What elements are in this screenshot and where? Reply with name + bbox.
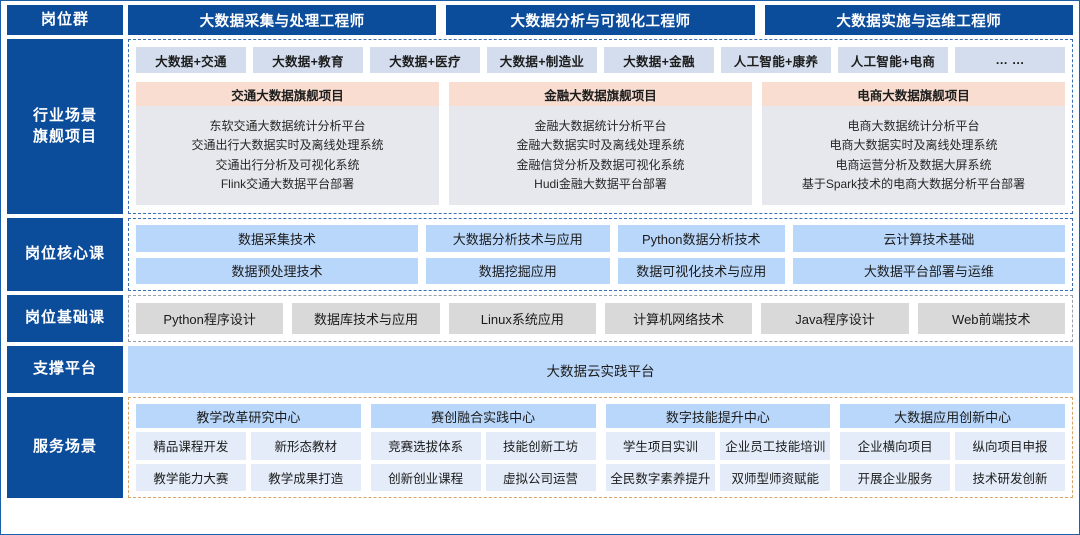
- flagship-project-item: 电商运营分析及数据大屏系统: [835, 157, 991, 174]
- service-center-title[interactable]: 教学改革研究中心: [136, 404, 361, 428]
- service-center-item[interactable]: 企业员工技能培训: [720, 432, 830, 460]
- service-center-row: 创新创业课程 虚拟公司运营: [371, 464, 596, 492]
- flagship-project-item: 金融大数据实时及离线处理系统: [516, 137, 684, 154]
- service-center-row: 精品课程开发 新形态教材: [136, 432, 361, 460]
- flagship-project-item: 电商大数据实时及离线处理系统: [829, 137, 997, 154]
- service-center-item[interactable]: 技术研发创新: [955, 464, 1065, 492]
- flagship-project-item: 东软交通大数据统计分析平台: [209, 118, 365, 135]
- flagship-project-item: 交通出行分析及可视化系统: [215, 157, 359, 174]
- industry-flagship-content: 大数据+交通 大数据+教育 大数据+医疗 大数据+制造业 大数据+金融 人工智能…: [128, 39, 1073, 214]
- core-course-item[interactable]: Python数据分析技术: [618, 225, 785, 252]
- row-label-service-scenario: 服务场景: [7, 397, 123, 498]
- service-center-item[interactable]: 教学能力大赛: [136, 464, 246, 492]
- service-center-title[interactable]: 赛创融合实践中心: [371, 404, 596, 428]
- core-course-item[interactable]: 云计算技术基础: [793, 225, 1065, 252]
- core-course-item[interactable]: 大数据平台部署与运维: [793, 258, 1065, 285]
- base-course-panel: Python程序设计 数据库技术与应用 Linux系统应用 计算机网络技术 Ja…: [128, 295, 1073, 342]
- core-course-item[interactable]: 数据挖掘应用: [426, 258, 610, 285]
- service-center-row: 企业横向项目 纵向项目申报: [840, 432, 1065, 460]
- service-center-item[interactable]: 竞赛选拔体系: [371, 432, 481, 460]
- industry-tag[interactable]: 人工智能+康养: [721, 47, 831, 73]
- industry-tag[interactable]: 大数据+制造业: [487, 47, 597, 73]
- flagship-project-list: 交通大数据旗舰项目 东软交通大数据统计分析平台 交通出行大数据实时及离线处理系统…: [136, 82, 1065, 205]
- job-group-item[interactable]: 大数据实施与运维工程师: [765, 5, 1073, 35]
- core-course-item[interactable]: 数据可视化技术与应用: [618, 258, 785, 285]
- industry-tag-more[interactable]: … …: [955, 47, 1065, 73]
- flagship-project-card: 交通大数据旗舰项目 东软交通大数据统计分析平台 交通出行大数据实时及离线处理系统…: [136, 82, 439, 205]
- service-center-card: 赛创融合实践中心 竞赛选拔体系 技能创新工坊 创新创业课程 虚拟公司运营: [371, 404, 596, 491]
- support-platform-panel: 大数据云实践平台: [128, 346, 1073, 393]
- row-label-support-platform: 支撑平台: [7, 346, 123, 393]
- core-course-line-1: 数据采集技术 大数据分析技术与应用 Python数据分析技术 云计算技术基础: [136, 225, 1065, 252]
- flagship-project-items: 东软交通大数据统计分析平台 交通出行大数据实时及离线处理系统 交通出行分析及可视…: [136, 106, 439, 205]
- row-label-core-course: 岗位核心课: [7, 218, 123, 291]
- base-course-item[interactable]: Linux系统应用: [449, 303, 596, 334]
- row-label-line-1: 行业场景: [33, 107, 97, 124]
- industry-tag[interactable]: 大数据+教育: [253, 47, 363, 73]
- row-label-industry-flagship: 行业场景 旗舰项目: [7, 39, 123, 214]
- core-course-panel: 数据采集技术 大数据分析技术与应用 Python数据分析技术 云计算技术基础 数…: [128, 218, 1073, 291]
- flagship-project-item: 电商大数据统计分析平台: [847, 118, 979, 135]
- service-center-item[interactable]: 技能创新工坊: [486, 432, 596, 460]
- curriculum-architecture-diagram: 岗位群 大数据采集与处理工程师 大数据分析与可视化工程师 大数据实施与运维工程师…: [0, 0, 1080, 535]
- service-center-title[interactable]: 大数据应用创新中心: [840, 404, 1065, 428]
- flagship-project-card: 电商大数据旗舰项目 电商大数据统计分析平台 电商大数据实时及离线处理系统 电商运…: [762, 82, 1065, 205]
- service-center-row: 全民数字素养提升 双师型师资赋能: [606, 464, 831, 492]
- flagship-project-title: 金融大数据旗舰项目: [449, 82, 752, 106]
- flagship-project-items: 电商大数据统计分析平台 电商大数据实时及离线处理系统 电商运营分析及数据大屏系统…: [762, 106, 1065, 205]
- service-center-row: 竞赛选拔体系 技能创新工坊: [371, 432, 596, 460]
- service-center-item[interactable]: 学生项目实训: [606, 432, 716, 460]
- base-course-item[interactable]: 数据库技术与应用: [292, 303, 439, 334]
- industry-tag[interactable]: 人工智能+电商: [838, 47, 948, 73]
- industry-tag[interactable]: 大数据+医疗: [370, 47, 480, 73]
- flagship-project-item: Hudi金融大数据平台部署: [534, 176, 667, 193]
- service-center-item[interactable]: 全民数字素养提升: [606, 464, 716, 492]
- flagship-project-items: 金融大数据统计分析平台 金融大数据实时及离线处理系统 金融信贷分析及数据可视化系…: [449, 106, 752, 205]
- industry-tag[interactable]: 大数据+金融: [604, 47, 714, 73]
- support-platform-row: 支撑平台 大数据云实践平台: [7, 346, 1073, 393]
- core-course-line-2: 数据预处理技术 数据挖掘应用 数据可视化技术与应用 大数据平台部署与运维: [136, 258, 1065, 285]
- industry-flagship-row: 行业场景 旗舰项目 大数据+交通 大数据+教育 大数据+医疗 大数据+制造业 大…: [7, 39, 1073, 214]
- service-center-item[interactable]: 精品课程开发: [136, 432, 246, 460]
- core-course-row: 岗位核心课 数据采集技术 大数据分析技术与应用 Python数据分析技术 云计算…: [7, 218, 1073, 291]
- flagship-project-item: 金融大数据统计分析平台: [534, 118, 666, 135]
- core-course-content: 数据采集技术 大数据分析技术与应用 Python数据分析技术 云计算技术基础 数…: [128, 218, 1073, 291]
- job-group-list: 大数据采集与处理工程师 大数据分析与可视化工程师 大数据实施与运维工程师: [128, 5, 1073, 35]
- service-center-title[interactable]: 数字技能提升中心: [606, 404, 831, 428]
- service-center-item[interactable]: 开展企业服务: [840, 464, 950, 492]
- service-center-item[interactable]: 教学成果打造: [251, 464, 361, 492]
- service-center-card: 教学改革研究中心 精品课程开发 新形态教材 教学能力大赛 教学成果打造: [136, 404, 361, 491]
- row-label-base-course: 岗位基础课: [7, 295, 123, 342]
- industry-tag-list: 大数据+交通 大数据+教育 大数据+医疗 大数据+制造业 大数据+金融 人工智能…: [136, 47, 1065, 73]
- base-course-content: Python程序设计 数据库技术与应用 Linux系统应用 计算机网络技术 Ja…: [128, 295, 1073, 342]
- industry-flagship-panel: 大数据+交通 大数据+教育 大数据+医疗 大数据+制造业 大数据+金融 人工智能…: [128, 39, 1073, 214]
- row-label-job-group: 岗位群: [7, 5, 123, 35]
- service-center-item[interactable]: 企业横向项目: [840, 432, 950, 460]
- support-platform-content: 大数据云实践平台: [128, 346, 1073, 393]
- service-scenario-row: 服务场景 教学改革研究中心 精品课程开发 新形态教材 教学能力大赛 教学成果打造…: [7, 397, 1073, 498]
- service-scenario-content: 教学改革研究中心 精品课程开发 新形态教材 教学能力大赛 教学成果打造 赛创融合…: [128, 397, 1073, 498]
- service-center-card: 大数据应用创新中心 企业横向项目 纵向项目申报 开展企业服务 技术研发创新: [840, 404, 1065, 491]
- service-center-item[interactable]: 虚拟公司运营: [486, 464, 596, 492]
- flagship-project-title: 电商大数据旗舰项目: [762, 82, 1065, 106]
- job-group-row: 岗位群 大数据采集与处理工程师 大数据分析与可视化工程师 大数据实施与运维工程师: [7, 5, 1073, 35]
- core-course-item[interactable]: 数据预处理技术: [136, 258, 418, 285]
- core-course-item[interactable]: 数据采集技术: [136, 225, 418, 252]
- service-scenario-panel: 教学改革研究中心 精品课程开发 新形态教材 教学能力大赛 教学成果打造 赛创融合…: [128, 397, 1073, 498]
- service-center-row: 学生项目实训 企业员工技能培训: [606, 432, 831, 460]
- base-course-item[interactable]: Python程序设计: [136, 303, 283, 334]
- service-center-row: 开展企业服务 技术研发创新: [840, 464, 1065, 492]
- job-group-item[interactable]: 大数据采集与处理工程师: [128, 5, 436, 35]
- base-course-item[interactable]: Web前端技术: [918, 303, 1065, 334]
- row-label-line-2: 旗舰项目: [33, 128, 97, 145]
- support-platform-item[interactable]: 大数据云实践平台: [128, 346, 1073, 393]
- service-center-item[interactable]: 纵向项目申报: [955, 432, 1065, 460]
- service-center-item[interactable]: 创新创业课程: [371, 464, 481, 492]
- service-center-row: 教学能力大赛 教学成果打造: [136, 464, 361, 492]
- service-center-card: 数字技能提升中心 学生项目实训 企业员工技能培训 全民数字素养提升 双师型师资赋…: [606, 404, 831, 491]
- service-center-item[interactable]: 双师型师资赋能: [720, 464, 830, 492]
- core-course-item[interactable]: 大数据分析技术与应用: [426, 225, 610, 252]
- flagship-project-item: 基于Spark技术的电商大数据分析平台部署: [802, 176, 1025, 193]
- flagship-project-card: 金融大数据旗舰项目 金融大数据统计分析平台 金融大数据实时及离线处理系统 金融信…: [449, 82, 752, 205]
- flagship-project-item: 交通出行大数据实时及离线处理系统: [191, 137, 383, 154]
- job-group-item[interactable]: 大数据分析与可视化工程师: [446, 5, 754, 35]
- flagship-project-title: 交通大数据旗舰项目: [136, 82, 439, 106]
- flagship-project-item: 金融信贷分析及数据可视化系统: [516, 157, 684, 174]
- base-course-item[interactable]: 计算机网络技术: [605, 303, 752, 334]
- flagship-project-item: Flink交通大数据平台部署: [221, 176, 354, 193]
- job-group-content: 大数据采集与处理工程师 大数据分析与可视化工程师 大数据实施与运维工程师: [128, 5, 1073, 35]
- base-course-item[interactable]: Java程序设计: [761, 303, 908, 334]
- base-course-row: 岗位基础课 Python程序设计 数据库技术与应用 Linux系统应用 计算机网…: [7, 295, 1073, 342]
- industry-tag[interactable]: 大数据+交通: [136, 47, 246, 73]
- service-center-item[interactable]: 新形态教材: [251, 432, 361, 460]
